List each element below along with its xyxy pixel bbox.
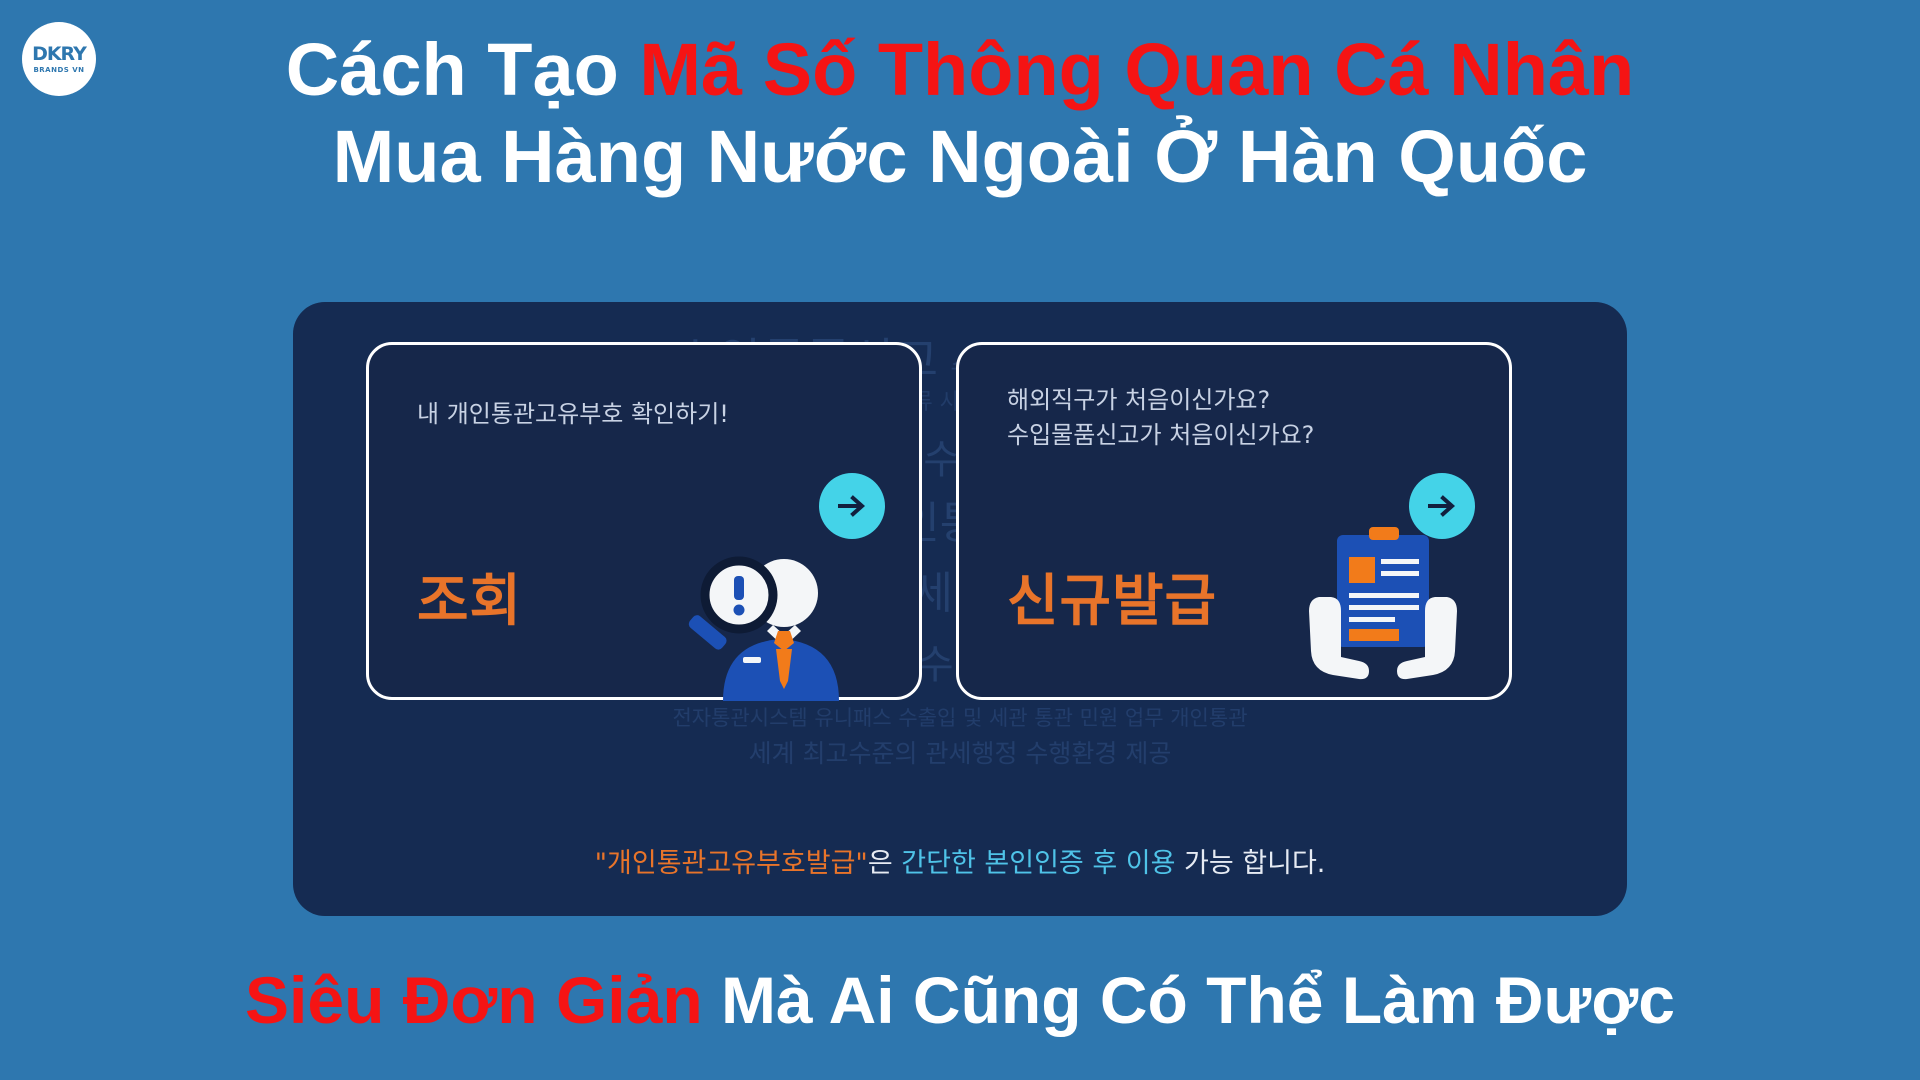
lookup-card-action-label: 조회 bbox=[417, 556, 522, 637]
headline-line-1-white: Cách Tạo bbox=[286, 28, 640, 111]
option-card-lookup[interactable]: 내 개인통관고유부호 확인하기! 조회 bbox=[366, 342, 922, 700]
note-part-plain-2: 가능 합니다. bbox=[1175, 848, 1325, 879]
watermark-line-8: 세계 최고수준의 관세행정 수행환경 제공 bbox=[293, 734, 1627, 770]
headline-line-2: Mua Hàng Nước Ngoài Ở Hàn Quốc bbox=[0, 113, 1920, 200]
headline: Cách Tạo Mã Số Thông Quan Cá Nhân Mua Hà… bbox=[0, 26, 1920, 201]
note-part-emphasis: 간단한 본인인증 후 이용 bbox=[901, 848, 1175, 879]
note-part-plain-1: 은 bbox=[868, 848, 901, 879]
headline-line-1-red: Mã Số Thông Quan Cá Nhân bbox=[639, 28, 1634, 111]
customs-portal-panel: 수입물품신고 수출입기업 해외직구물품 한국 수출입기업 품목분류 사전심사 관… bbox=[293, 302, 1627, 916]
hands-clipboard-icon bbox=[1283, 525, 1483, 685]
issue-card-action-label: 신규발급 bbox=[1007, 556, 1217, 637]
option-card-new-issue[interactable]: 해외직구가 처음이신가요? 수입물품신고가 처음이신가요? 신규발급 bbox=[956, 342, 1512, 700]
bottom-caption-red: Siêu Đơn Giản bbox=[245, 963, 721, 1037]
note-part-highlight: "개인통관고유부호발급" bbox=[595, 848, 868, 879]
issue-card-question: 해외직구가 처음이신가요? 수입물품신고가 처음이신가요? bbox=[1007, 383, 1314, 453]
magnifier-person-icon bbox=[671, 521, 891, 701]
bottom-caption: Siêu Đơn Giản Mà Ai Cũng Có Thể Làm Được bbox=[0, 962, 1920, 1038]
lookup-card-question: 내 개인통관고유부호 확인하기! bbox=[417, 397, 729, 432]
headline-line-1: Cách Tạo Mã Số Thông Quan Cá Nhân bbox=[0, 26, 1920, 113]
bottom-caption-white: Mà Ai Cũng Có Thể Làm Được bbox=[721, 963, 1675, 1037]
watermark-line-7: 전자통관시스템 유니패스 수출입 및 세관 통관 민원 업무 개인통관 bbox=[293, 702, 1627, 732]
panel-footer-note: "개인통관고유부호발급"은 간단한 본인인증 후 이용 가능 합니다. bbox=[293, 841, 1627, 880]
